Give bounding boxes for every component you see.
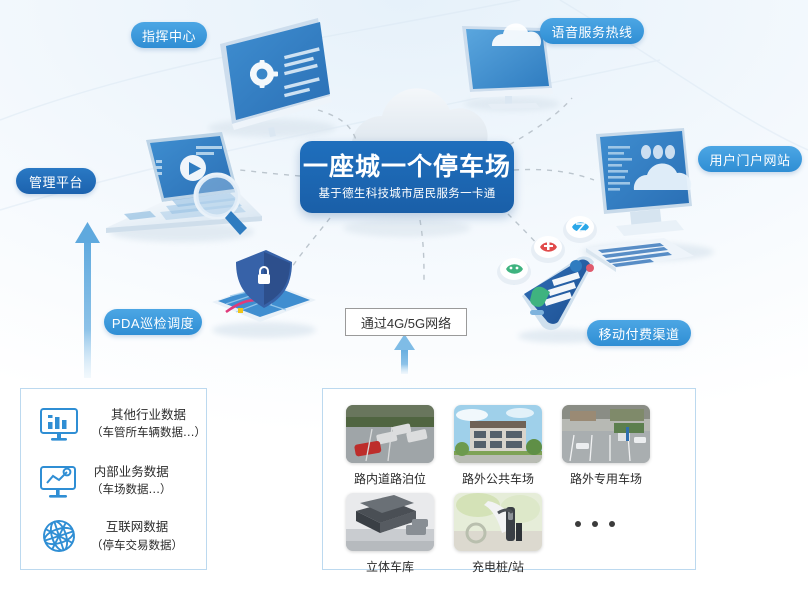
banner-subtitle: 基于德生科技城市居民服务一卡通	[319, 185, 496, 201]
data-source-title: 互联网数据	[91, 517, 183, 536]
scenario-item[interactable]: 立体车库	[346, 493, 434, 575]
pda-tablet-shield-illustration	[212, 250, 316, 338]
label-voice-hotline[interactable]: 语音服务热线	[540, 18, 644, 44]
command-center-monitor-illustration	[208, 18, 336, 137]
scenario-caption: 路外公共车场	[454, 470, 542, 487]
wechat-pay-icon	[497, 258, 531, 285]
label-pda-patrol[interactable]: PDA巡检调度	[104, 309, 202, 335]
data-flow-arrow-up	[75, 222, 100, 378]
label-management-platform[interactable]: 管理平台	[16, 168, 96, 194]
banner-title: 一座城一个停车场	[303, 153, 511, 181]
scenario-item[interactable]: 路外专用车场	[562, 405, 650, 487]
scenario-caption: 路外专用车场	[562, 470, 650, 487]
union-pay-icon	[563, 216, 597, 243]
scenario-caption: 充电桩/站	[454, 558, 542, 575]
on-street-parking-photo	[346, 405, 434, 463]
ev-charging-station-photo	[454, 493, 542, 551]
network-arrow-up	[394, 334, 415, 374]
label-pda-patrol-text: PDA巡检调度	[112, 313, 194, 332]
infographic-canvas: 指挥中心 语音服务热线 管理平台 用户门户网站 PDA巡检调度 移动付费渠道 通…	[0, 0, 808, 590]
alipay-icon	[531, 236, 565, 263]
data-source-title: 其他行业数据	[91, 405, 206, 424]
globe-icon	[39, 517, 79, 555]
label-mobile-payment[interactable]: 移动付费渠道	[587, 320, 691, 346]
data-source-text: 互联网数据 （停车交易数据）	[91, 517, 183, 554]
label-user-portal[interactable]: 用户门户网站	[698, 146, 802, 172]
label-voice-hotline-text: 语音服务热线	[551, 22, 632, 41]
data-source-title: 内部业务数据	[91, 462, 172, 481]
data-source-text: 内部业务数据 （车场数据…）	[91, 462, 172, 499]
label-network: 通过4G/5G网络	[345, 308, 467, 336]
label-mobile-payment-text: 移动付费渠道	[598, 324, 679, 343]
user-portal-desktop-illustration	[582, 128, 714, 272]
label-command-center-text: 指挥中心	[142, 26, 196, 45]
monitor-line-chart-icon	[39, 463, 79, 499]
label-command-center[interactable]: 指挥中心	[131, 22, 207, 48]
data-source-text: 其他行业数据 （车管所车辆数据…）	[91, 405, 206, 442]
dedicated-off-street-lot-photo	[562, 405, 650, 463]
public-off-street-lot-photo	[454, 405, 542, 463]
more-scenarios-indicator	[575, 521, 615, 527]
data-source-subtitle: （车管所车辆数据…）	[91, 424, 206, 442]
data-source-subtitle: （车场数据…）	[91, 481, 172, 499]
scenario-item[interactable]: 路内道路泊位	[346, 405, 434, 487]
data-source-row[interactable]: 其他行业数据 （车管所车辆数据…）	[39, 405, 206, 442]
label-network-text: 通过4G/5G网络	[361, 313, 451, 332]
data-source-subtitle: （停车交易数据）	[91, 537, 183, 555]
data-source-row[interactable]: 内部业务数据 （车场数据…）	[39, 462, 172, 499]
scenario-caption: 立体车库	[346, 558, 434, 575]
scenario-caption: 路内道路泊位	[346, 470, 434, 487]
label-management-platform-text: 管理平台	[29, 172, 83, 191]
scenario-item[interactable]: 充电桩/站	[454, 493, 542, 575]
multi-level-garage-photo	[346, 493, 434, 551]
center-banner: 一座城一个停车场 基于德生科技城市居民服务一卡通	[300, 141, 514, 213]
scenario-item[interactable]: 路外公共车场	[454, 405, 542, 487]
data-source-row[interactable]: 互联网数据 （停车交易数据）	[39, 517, 183, 555]
label-user-portal-text: 用户门户网站	[709, 150, 790, 169]
monitor-bar-chart-icon	[39, 406, 79, 442]
scenarios-panel: 路内道路泊位	[322, 388, 696, 570]
data-sources-panel: 其他行业数据 （车管所车辆数据…） 内部业务数据 （车场数据…）	[20, 388, 207, 570]
